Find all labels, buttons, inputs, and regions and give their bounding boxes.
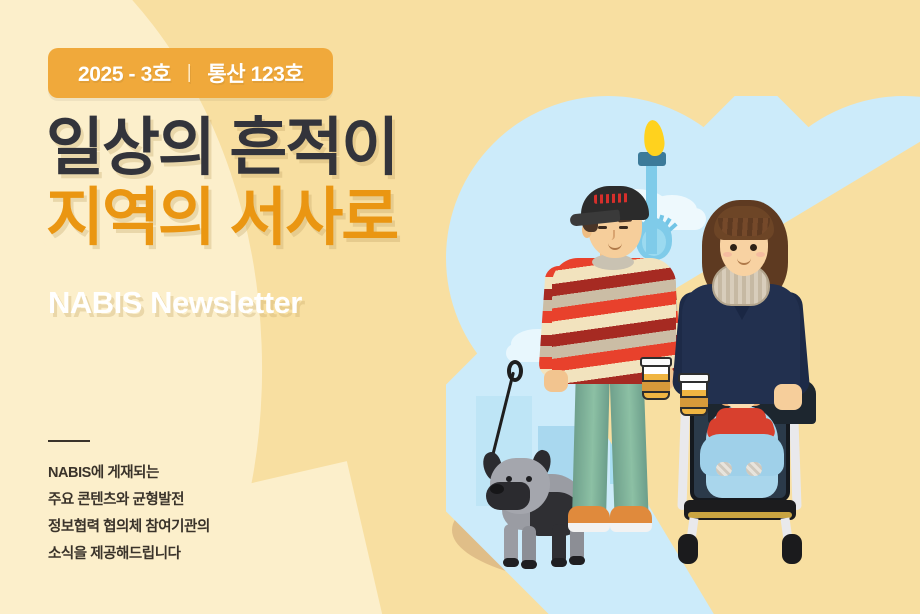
baby-foot: [716, 462, 732, 476]
title-line-1: 일상의 흔적이: [46, 116, 397, 180]
description-text: NABIS에 게재되는 주요 콘텐츠와 균형발전 정보협력 협의체 참여기관의 …: [48, 460, 210, 568]
woman-eye: [730, 244, 737, 251]
dog-eye: [506, 476, 512, 482]
description-line: NABIS에 게재되는: [48, 460, 210, 487]
man-shoe: [568, 506, 610, 532]
cup-sleeve: [680, 396, 708, 409]
man-illustration: [548, 170, 680, 560]
stroller-wheel: [782, 534, 802, 564]
stroller-bar: [688, 512, 792, 518]
man-eye: [598, 226, 607, 229]
woman-eye: [750, 244, 757, 251]
text-divider: [48, 440, 90, 442]
page-title: 일상의 흔적이 지역의 서사로: [46, 116, 397, 251]
badge-separator: |: [187, 62, 192, 84]
cup-sleeve: [642, 380, 670, 393]
issue-number: 2025 - 3호: [78, 58, 171, 88]
man-eye: [619, 226, 628, 229]
woman-hand: [774, 384, 802, 410]
total-issue-number: 통산 123호: [207, 58, 303, 88]
newsletter-subtitle: NABIS Newsletter: [48, 285, 302, 321]
title-line-2: 지역의 서사로: [46, 186, 397, 250]
dog-eye: [526, 476, 532, 482]
cap-logo: [594, 193, 628, 204]
dog-nose: [490, 484, 504, 494]
coffee-cup-icon: [680, 378, 708, 416]
description-line: 정보협력 협의체 참여기관의: [48, 514, 210, 541]
dog-paw: [503, 558, 519, 567]
woman-blush: [723, 252, 732, 257]
stroller-wheel: [678, 534, 698, 564]
woman-blush: [756, 252, 765, 257]
coffee-cup-icon: [642, 362, 670, 400]
woman-bangs: [718, 218, 770, 236]
man-shoe: [610, 506, 652, 532]
newsletter-banner: 2025 - 3호 | 통산 123호 일상의 흔적이 지역의 서사로 NABI…: [0, 0, 920, 614]
description-line: 주요 콘텐츠와 균형발전: [48, 487, 210, 514]
cup-lid: [678, 373, 710, 383]
man-hand: [544, 370, 568, 392]
baby-foot: [746, 462, 762, 476]
woman-illustration: [682, 192, 802, 452]
dog-paw: [521, 560, 537, 569]
description-line: 소식을 제공해드립니다: [48, 541, 210, 568]
issue-badge: 2025 - 3호 | 통산 123호: [48, 48, 333, 98]
man-leg: [572, 368, 610, 519]
cup-lid: [640, 357, 672, 367]
